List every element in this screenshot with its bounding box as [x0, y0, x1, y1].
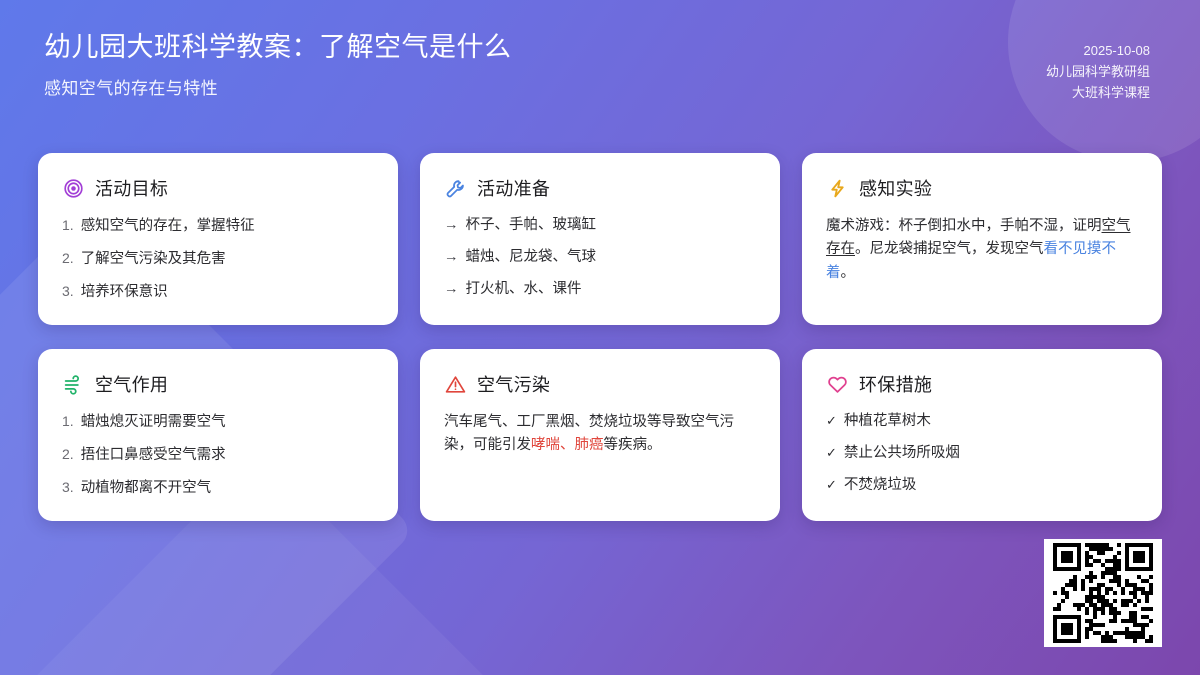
text-segment: 魔术游戏：杯子倒扣水中，手帕不湿，证明: [826, 218, 1102, 234]
list-marker: ✓: [826, 444, 837, 463]
list-item-text: 杯子、手帕、玻璃缸: [466, 215, 597, 236]
content-card: 空气污染汽车尾气、工厂黑烟、焚烧垃圾等导致空气污染，可能引发哮喘、肺癌等疾病。: [420, 349, 780, 521]
list-item: →杯子、手帕、玻璃缸: [444, 215, 756, 236]
list-marker: ✓: [826, 476, 837, 495]
list-item: 2.了解空气污染及其危害: [62, 248, 374, 270]
page-title: 幼儿园大班科学教案：了解空气是什么: [44, 30, 512, 65]
content-card: 活动准备→杯子、手帕、玻璃缸→蜡烛、尼龙袋、气球→打火机、水、课件: [420, 153, 780, 325]
card-paragraph: 魔术游戏：杯子倒扣水中，手帕不湿，证明空气存在。尼龙袋捕捉空气，发现空气看不见摸…: [826, 215, 1138, 285]
warning-triangle-icon: [444, 373, 466, 395]
slide-header: 幼儿园大班科学教案：了解空气是什么 感知空气的存在与特性 2025-10-08 …: [0, 0, 1200, 103]
list-item-text: 禁止公共场所吸烟: [844, 443, 960, 464]
content-card: 感知实验魔术游戏：杯子倒扣水中，手帕不湿，证明空气存在。尼龙袋捕捉空气，发现空气…: [802, 153, 1162, 325]
content-card: 空气作用1.蜡烛熄灭证明需要空气2.捂住口鼻感受空气需求3.动植物都离不开空气: [38, 349, 398, 521]
target-icon: [62, 177, 84, 199]
card-list: 1.蜡烛熄灭证明需要空气2.捂住口鼻感受空气需求3.动植物都离不开空气: [62, 411, 374, 499]
list-item: ✓不焚烧垃圾: [826, 475, 1138, 496]
list-marker: 2.: [62, 444, 74, 464]
card-paragraph: 汽车尾气、工厂黑烟、焚烧垃圾等导致空气污染，可能引发哮喘、肺癌等疾病。: [444, 411, 756, 458]
list-marker: →: [444, 279, 459, 300]
meta-course: 大班科学课程: [1046, 82, 1150, 103]
text-segment: 。: [841, 265, 856, 281]
card-header: 环保措施: [826, 371, 1138, 397]
card-title: 空气作用: [95, 371, 168, 397]
qr-code[interactable]: [1044, 539, 1162, 647]
list-item-text: 种植花草树木: [844, 411, 931, 432]
list-marker: 3.: [62, 477, 74, 497]
card-title: 感知实验: [859, 175, 932, 201]
lightning-icon: [826, 177, 848, 199]
card-list: →杯子、手帕、玻璃缸→蜡烛、尼龙袋、气球→打火机、水、课件: [444, 215, 756, 300]
list-item-text: 打火机、水、课件: [466, 279, 582, 300]
card-list: ✓种植花草树木✓禁止公共场所吸烟✓不焚烧垃圾: [826, 411, 1138, 496]
card-title: 活动准备: [477, 175, 550, 201]
card-list: 1.感知空气的存在，掌握特征2.了解空气污染及其危害3.培养环保意识: [62, 215, 374, 303]
list-marker: →: [444, 247, 459, 268]
list-item: 1.蜡烛熄灭证明需要空气: [62, 411, 374, 433]
list-item: →打火机、水、课件: [444, 279, 756, 300]
card-title: 环保措施: [859, 371, 932, 397]
page-subtitle: 感知空气的存在与特性: [44, 74, 512, 99]
list-item: 3.动植物都离不开空气: [62, 477, 374, 499]
list-marker: 1.: [62, 411, 74, 431]
card-title: 空气污染: [477, 371, 550, 397]
slide-root: 幼儿园大班科学教案：了解空气是什么 感知空气的存在与特性 2025-10-08 …: [0, 0, 1200, 675]
list-item-text: 蜡烛、尼龙袋、气球: [466, 247, 597, 268]
list-marker: ✓: [826, 412, 837, 431]
card-header: 活动目标: [62, 175, 374, 201]
text-segment: 等疾病。: [604, 437, 662, 453]
content-card: 活动目标1.感知空气的存在，掌握特征2.了解空气污染及其危害3.培养环保意识: [38, 153, 398, 325]
header-meta: 2025-10-08 幼儿园科学教研组 大班科学课程: [1046, 30, 1158, 103]
text-segment: 。尼龙袋捕捉空气，发现空气: [855, 241, 1044, 257]
list-item-text: 动植物都离不开空气: [81, 478, 212, 499]
list-item-text: 蜡烛熄灭证明需要空气: [81, 412, 226, 433]
card-header: 活动准备: [444, 175, 756, 201]
list-item: ✓种植花草树木: [826, 411, 1138, 432]
list-item-text: 了解空气污染及其危害: [81, 249, 226, 270]
list-item-text: 不焚烧垃圾: [844, 475, 917, 496]
list-item: 1.感知空气的存在，掌握特征: [62, 215, 374, 237]
list-item: ✓禁止公共场所吸烟: [826, 443, 1138, 464]
card-header: 感知实验: [826, 175, 1138, 201]
list-item-text: 捂住口鼻感受空气需求: [81, 445, 226, 466]
wrench-icon: [444, 177, 466, 199]
qr-code-icon: [1053, 543, 1153, 643]
card-header: 空气作用: [62, 371, 374, 397]
card-grid: 活动目标1.感知空气的存在，掌握特征2.了解空气污染及其危害3.培养环保意识 活…: [38, 153, 1162, 521]
list-item: →蜡烛、尼龙袋、气球: [444, 247, 756, 268]
title-block: 幼儿园大班科学教案：了解空气是什么 感知空气的存在与特性: [42, 30, 512, 99]
list-marker: →: [444, 215, 459, 236]
list-item-text: 感知空气的存在，掌握特征: [81, 216, 255, 237]
wind-icon: [62, 373, 84, 395]
list-item: 2.捂住口鼻感受空气需求: [62, 444, 374, 466]
text-segment: 哮喘、肺癌: [531, 437, 604, 453]
meta-org: 幼儿园科学教研组: [1046, 61, 1150, 82]
list-item: 3.培养环保意识: [62, 281, 374, 303]
list-marker: 1.: [62, 215, 74, 235]
card-title: 活动目标: [95, 175, 168, 201]
list-marker: 2.: [62, 248, 74, 268]
list-item-text: 培养环保意识: [81, 282, 168, 303]
heart-icon: [826, 373, 848, 395]
content-card: 环保措施✓种植花草树木✓禁止公共场所吸烟✓不焚烧垃圾: [802, 349, 1162, 521]
card-header: 空气污染: [444, 371, 756, 397]
meta-date: 2025-10-08: [1046, 40, 1150, 61]
list-marker: 3.: [62, 281, 74, 301]
